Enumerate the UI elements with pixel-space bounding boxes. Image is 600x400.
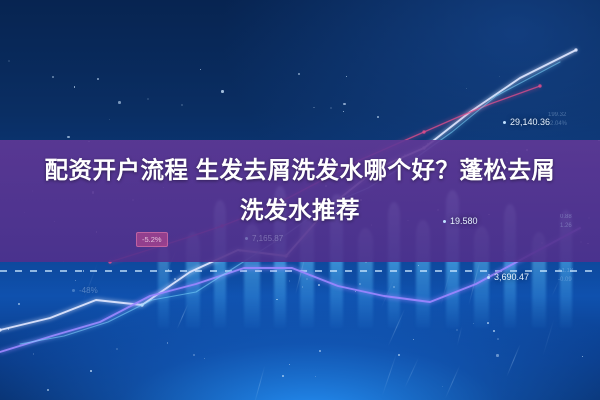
ticker-row: 199.32 <box>548 112 567 119</box>
annotation-value-lower-right: 3,690.47 <box>487 272 529 282</box>
ticker-mid-right: 0.881.26 <box>560 214 572 230</box>
ticker-top-right: 199.32-2.04% <box>548 112 567 128</box>
ticker-lower-right: +1.18-0.09 <box>558 268 573 284</box>
annotation-dot-icon <box>443 220 446 223</box>
ticker-row: -2.04% <box>548 121 567 128</box>
ticker-row: +1.18 <box>558 268 573 275</box>
headline-line-2: 洗发水推荐 <box>14 190 586 230</box>
annotation-value: -48% <box>79 286 98 295</box>
badge-change-badge: -5.2% <box>136 232 168 247</box>
annotation-value-mid-right: 19.580 <box>443 216 478 226</box>
banner-canvas: 配资开户流程 生发去屑洗发水哪个好？蓬松去屑 洗发水推荐 29,140.3619… <box>0 0 600 400</box>
chart-data-point <box>422 130 425 133</box>
annotation-dot-icon <box>503 121 506 124</box>
annotation-value-top-right: 29,140.36 <box>503 117 550 127</box>
annotation-dot-icon <box>487 276 490 279</box>
annotation-value: 19.580 <box>450 216 478 226</box>
ticker-row: -0.09 <box>558 277 573 284</box>
ticker-row: 1.26 <box>560 223 572 230</box>
annotation-dot-icon <box>245 237 248 240</box>
annotation-value: 7,165.87 <box>252 234 283 243</box>
annotation-value-mid-center: 7,165.87 <box>245 234 283 243</box>
ticker-row: 0.88 <box>560 214 572 221</box>
chart-data-point <box>538 84 541 87</box>
annotation-value-lower-left: -48% <box>72 286 98 295</box>
annotation-value: 29,140.36 <box>510 117 550 127</box>
page-title: 配资开户流程 生发去屑洗发水哪个好？蓬松去屑 洗发水推荐 <box>0 150 600 230</box>
chart-data-point <box>574 48 577 51</box>
annotation-value: 3,690.47 <box>494 272 529 282</box>
annotation-dot-icon <box>72 289 75 292</box>
headline-line-1: 配资开户流程 生发去屑洗发水哪个好？蓬松去屑 <box>14 150 586 190</box>
